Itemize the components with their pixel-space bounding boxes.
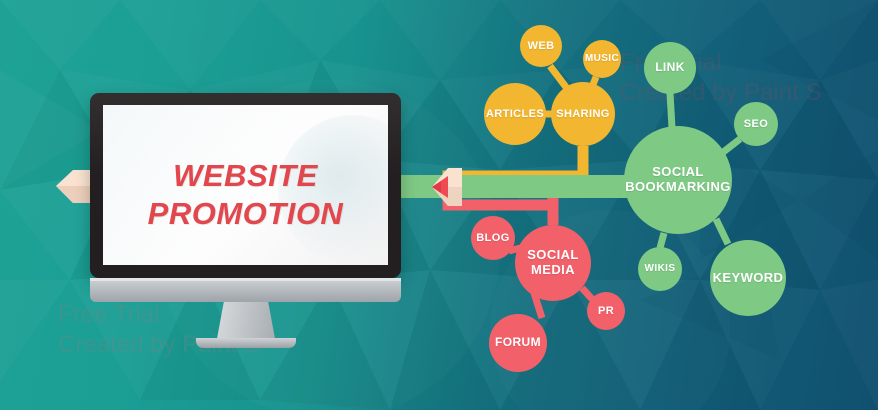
monitor-chin (90, 278, 401, 302)
bubble-wikis[interactable]: WIKIS (638, 247, 682, 291)
headline-line1: WEBSITE (103, 157, 388, 195)
bubble-forum[interactable]: FORUM (489, 314, 547, 372)
monitor-base (196, 338, 296, 348)
bubble-keyword[interactable]: KEYWORD (710, 240, 786, 316)
promo-banner: Free TrialCreated by Paint S Free TrialC… (0, 0, 878, 410)
bubble-pr[interactable]: PR (587, 292, 625, 330)
bubble-seo[interactable]: SEO (734, 102, 778, 146)
bubble-blog[interactable]: BLOG (471, 216, 515, 260)
bubble-social-media[interactable]: SOCIAL MEDIA (515, 225, 591, 301)
bubble-social-bookmarking[interactable]: SOCIAL BOOKMARKING (624, 126, 732, 234)
desktop-monitor: WEBSITE PROMOTION (90, 93, 401, 278)
bubble-sharing[interactable]: SHARING (551, 82, 615, 146)
bubble-articles[interactable]: ARTICLES (484, 83, 546, 145)
headline-line2: PROMOTION (103, 195, 388, 233)
screen-headline: WEBSITE PROMOTION (103, 157, 388, 233)
bubble-music[interactable]: MUSIC (583, 40, 621, 78)
bubble-web[interactable]: WEB (520, 25, 562, 67)
monitor-screen: WEBSITE PROMOTION (103, 105, 388, 265)
bubble-link[interactable]: LINK (644, 42, 696, 94)
